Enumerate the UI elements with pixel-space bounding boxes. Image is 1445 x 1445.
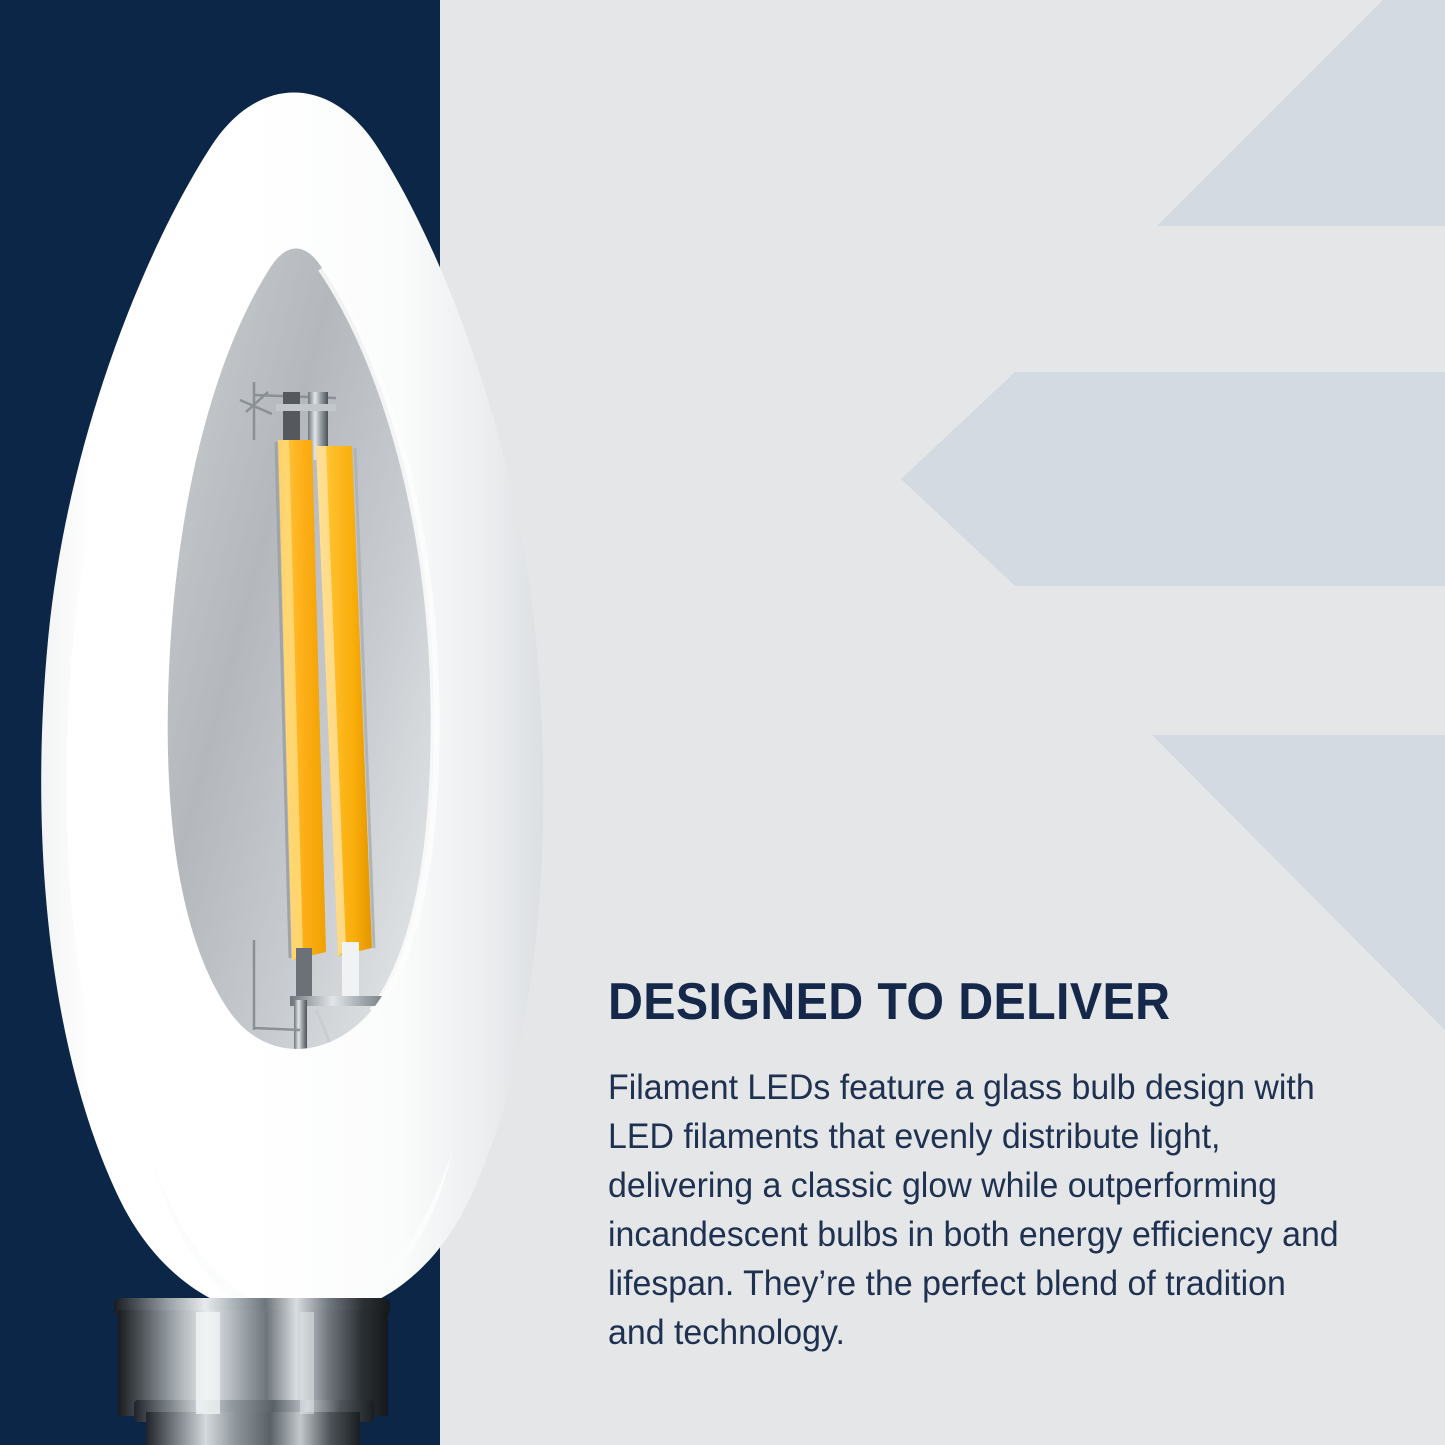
product-feature-banner: DESIGNED TO DELIVER Filament LEDs featur… bbox=[0, 0, 1445, 1445]
filament-post-bottom-left bbox=[296, 948, 312, 1000]
base-highlight-streak-2 bbox=[300, 1312, 314, 1414]
screw-base bbox=[114, 1298, 390, 1445]
feature-text-block: DESIGNED TO DELIVER Filament LEDs featur… bbox=[608, 975, 1378, 1357]
filament-post-bottom-right bbox=[342, 942, 359, 1002]
filament-cross-bar-top bbox=[276, 404, 336, 411]
led-filament-candle-bulb bbox=[0, 0, 620, 1445]
feature-description: Filament LEDs feature a glass bulb desig… bbox=[608, 1063, 1343, 1357]
chevron-middle-shape bbox=[901, 372, 1445, 586]
base-highlight-streak bbox=[196, 1312, 220, 1414]
chevron-top-shape bbox=[1157, 0, 1445, 226]
page-title: DESIGNED TO DELIVER bbox=[608, 975, 1324, 1029]
base-thread-ring bbox=[146, 1412, 360, 1445]
